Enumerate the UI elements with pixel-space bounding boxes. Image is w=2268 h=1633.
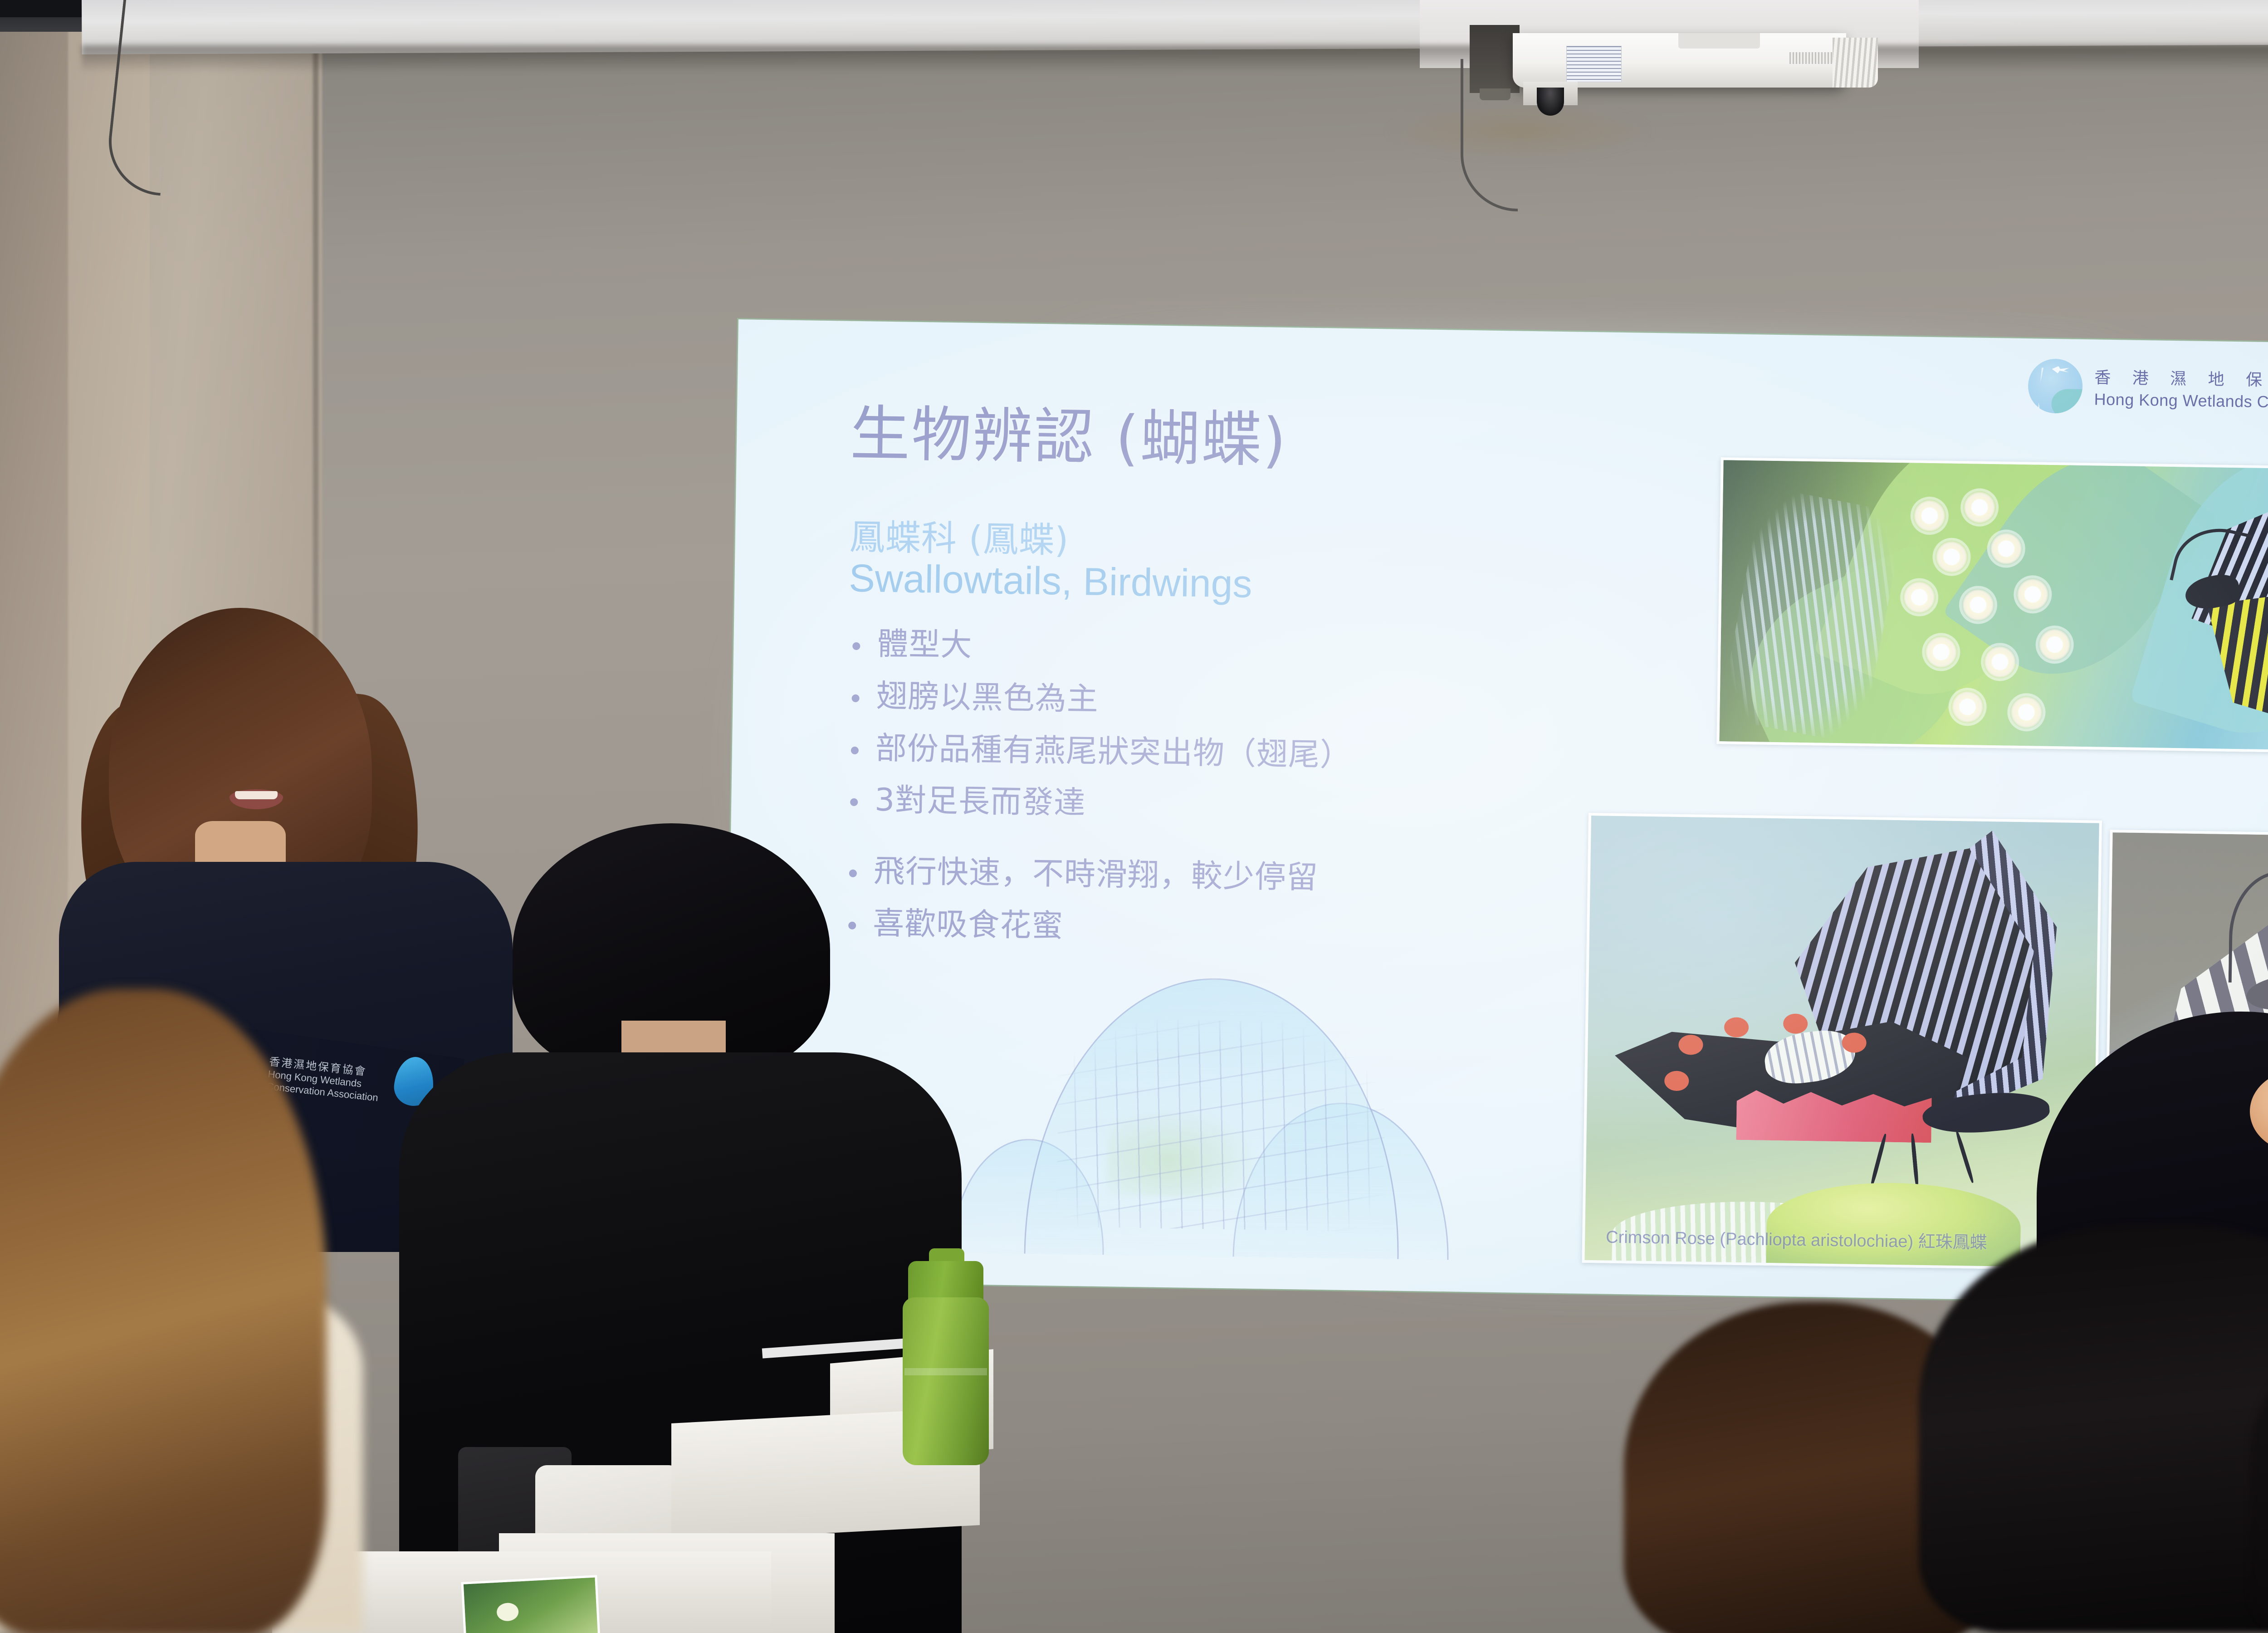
blossom bbox=[1925, 636, 1958, 669]
blossom bbox=[1913, 499, 1946, 532]
blossom bbox=[1984, 645, 2017, 679]
ceiling-shadow bbox=[82, 45, 2268, 73]
hill-brush-strokes bbox=[1056, 1018, 1386, 1232]
blossom bbox=[1989, 532, 2023, 565]
blossom bbox=[1963, 491, 1996, 524]
blossom bbox=[1961, 588, 1994, 621]
blossom bbox=[1903, 581, 1936, 614]
photo-birdwing-on-flowers bbox=[1716, 457, 2268, 755]
slide-subtitle-chinese: 鳳蝶科 (鳳蝶) bbox=[849, 517, 1069, 562]
bullet-item: 3對足長而發達 bbox=[844, 781, 1706, 831]
slide-title: 生物辨認 (蝴蝶) bbox=[850, 402, 1288, 473]
bottle-body bbox=[903, 1297, 989, 1465]
wetlands-logo-mark-icon bbox=[2028, 358, 2083, 414]
slide-logo: 香 港 濕 地 保 育 協 會 Hong Kong Wetlands Conse… bbox=[2028, 358, 2268, 419]
blossom bbox=[2016, 578, 2049, 611]
wall-stain bbox=[1383, 104, 1656, 159]
presenter-teeth bbox=[235, 791, 278, 799]
slide-bullet-list: 體型大 翅膀以黑色為主 部份品種有燕尾狀突出物（翅尾） 3對足長而發達 飛行快速… bbox=[841, 625, 1708, 969]
projector-mount-arm bbox=[1480, 88, 1510, 100]
printed-card-on-desk bbox=[461, 1575, 601, 1633]
birdwing-butterfly bbox=[2155, 498, 2268, 728]
photo-crimson-rose: Crimson Rose (Pachliopta aristolochiae) … bbox=[1582, 813, 2102, 1271]
logo-chinese-name: 香 港 濕 地 保 育 協 會 bbox=[2094, 364, 2268, 393]
projector-side-vent bbox=[1833, 38, 1878, 88]
bullet-item: 翅膀以黑色為主 bbox=[845, 677, 1707, 727]
logo-reed-grass-icon bbox=[2038, 368, 2073, 412]
projector-spec-label bbox=[1566, 46, 1622, 82]
blossom bbox=[1951, 690, 1984, 724]
blossom bbox=[2038, 628, 2071, 661]
blossom bbox=[2010, 696, 2043, 729]
projector-body bbox=[1513, 33, 1846, 88]
green-shaker-bottle bbox=[903, 1261, 989, 1461]
bottle-ring bbox=[904, 1368, 987, 1375]
slide-subtitle-english: Swallowtails, Birdwings bbox=[849, 557, 1252, 606]
bullet-item: 部份品種有燕尾狀突出物（翅尾） bbox=[844, 729, 1706, 779]
audience-left-foreground bbox=[0, 989, 327, 1633]
bullet-item: 飛行快速，不時滑翔，較少停留 bbox=[842, 852, 1705, 903]
projector-mount-bracket bbox=[1470, 25, 1520, 93]
projector-lens bbox=[1537, 88, 1564, 116]
classroom-presentation-photo: 香 港 濕 地 保 育 協 會 Hong Kong Wetlands Conse… bbox=[0, 0, 2268, 1633]
card-flower-graphic bbox=[496, 1602, 519, 1621]
audience-right-foreground-2 bbox=[1919, 1225, 2268, 1633]
white-blossom-cluster bbox=[1892, 490, 2141, 738]
logo-english-name: Hong Kong Wetlands Conservation Associat… bbox=[2094, 390, 2268, 414]
butterfly-hindwing bbox=[2205, 594, 2268, 728]
watercolor-hills-illustration bbox=[952, 926, 1456, 1260]
slide-logo-text: 香 港 濕 地 保 育 協 會 Hong Kong Wetlands Conse… bbox=[2094, 364, 2268, 414]
bullet-item: 體型大 bbox=[846, 625, 1708, 675]
blossom bbox=[1935, 540, 1968, 573]
projector-top-tab bbox=[1678, 33, 1760, 49]
ceiling-projector bbox=[1470, 25, 1846, 107]
